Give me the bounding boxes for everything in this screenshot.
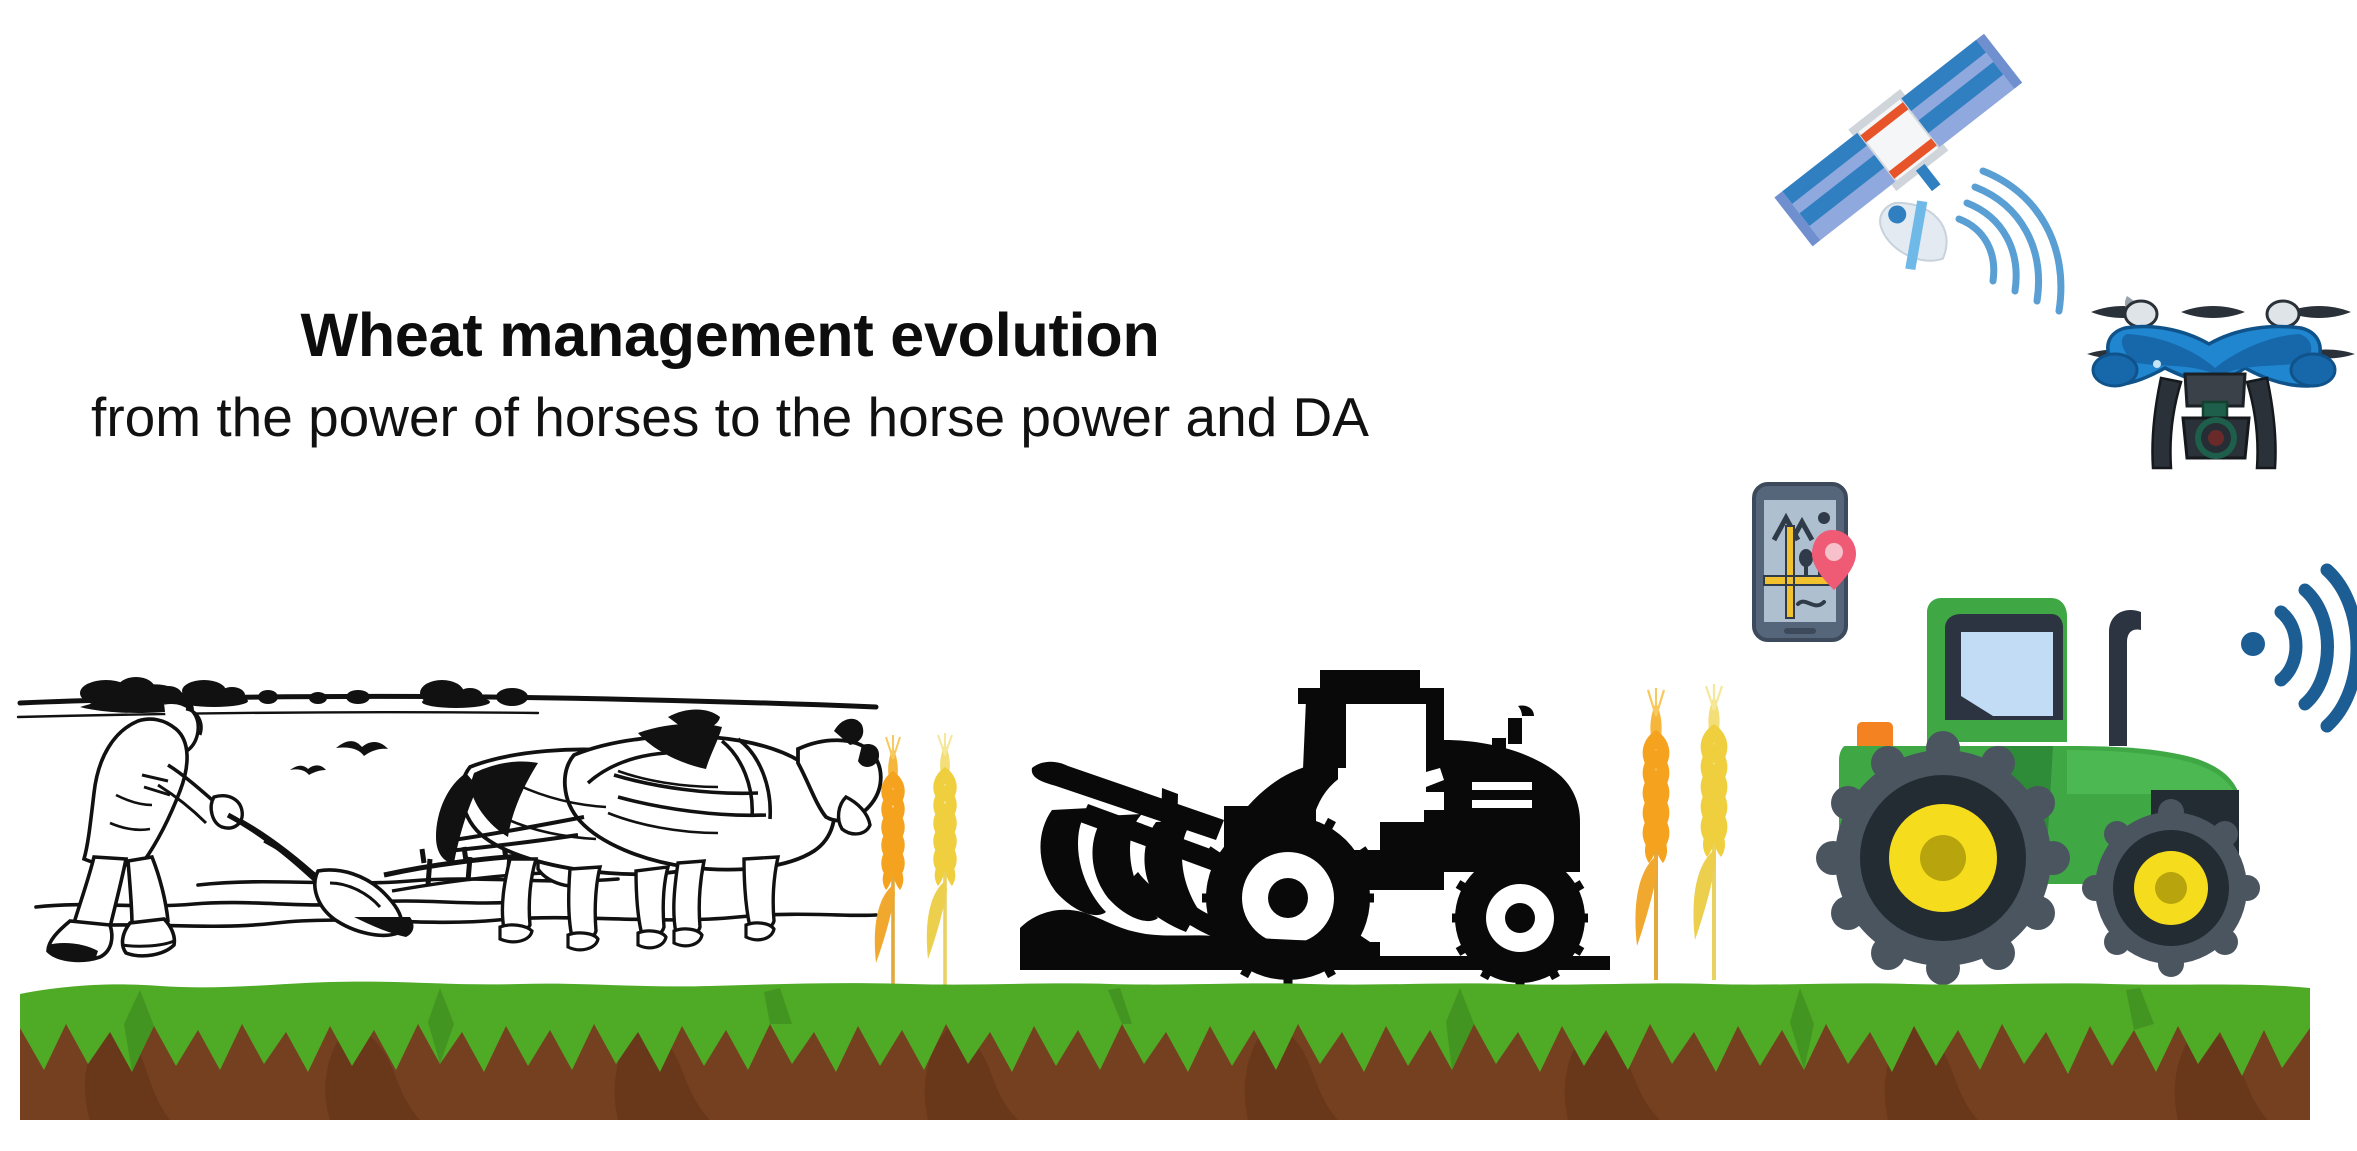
- farmer-figure: [48, 684, 242, 960]
- tractor-cab: [1927, 598, 2067, 742]
- wheat-stalk-orange: [1635, 688, 1669, 980]
- banner-canvas: Wheat management evolution from the powe…: [0, 0, 2357, 1151]
- wheat-stalks-right: [1620, 688, 1750, 988]
- drone-icon: [2085, 282, 2357, 482]
- page-title: Wheat management evolution: [0, 300, 1460, 372]
- satellite-icon: [1745, 5, 2075, 355]
- tractor-exhaust-stack: [2109, 610, 2141, 746]
- wheat-stalks-left: [862, 735, 982, 995]
- tractor-cab-window: [1961, 632, 2053, 716]
- map-sun: [1818, 512, 1830, 524]
- vintage-tractor-silhouette: [1020, 660, 1610, 990]
- modern-green-tractor: [1815, 570, 2355, 980]
- grass-and-soil-strip: [20, 980, 2310, 1120]
- birds: [290, 741, 388, 775]
- wheat-stalk-yellow: [1693, 684, 1727, 980]
- wheat-stalk-yellow: [927, 733, 957, 985]
- wheat-stalk-orange: [875, 735, 905, 985]
- tractor-front-wheel: [2082, 799, 2260, 977]
- phone-home-indicator: [1784, 628, 1816, 634]
- satellite-dish: [1867, 189, 1960, 280]
- satellite-signal-waves: [1959, 171, 2061, 311]
- wifi-signal-icon: [2241, 570, 2357, 726]
- page-subtitle: from the power of horses to the horse po…: [0, 384, 1460, 450]
- horse-drawn-plow-illustration: [18, 645, 878, 990]
- drone-gimbal-camera: [2183, 374, 2249, 459]
- title-block: Wheat management evolution from the powe…: [0, 300, 1460, 450]
